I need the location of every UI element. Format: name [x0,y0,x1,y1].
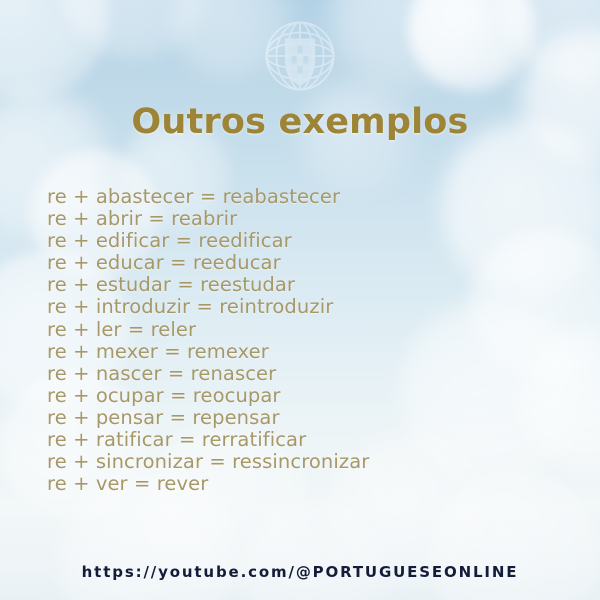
bokeh-circle [0,0,110,100]
bokeh-circle [408,0,536,92]
example-line: re + ver = rever [47,473,517,495]
example-line: re + sincronizar = ressincronizar [47,451,517,473]
slide-canvas: Outros exemplos re + abastecer = reabast… [0,0,600,600]
examples-list: re + abastecer = reabastecerre + abrir =… [47,186,517,495]
example-line: re + introduzir = reintroduzir [47,296,517,318]
footer-url[interactable]: https://youtube.com/@PORTUGUESEONLINE [0,563,600,581]
example-line: re + ocupar = reocupar [47,385,517,407]
portuguese-coat-of-arms-icon [258,14,342,98]
example-line: re + estudar = reestudar [47,274,517,296]
example-line: re + pensar = repensar [47,407,517,429]
bokeh-circle [240,500,390,600]
example-line: re + mexer = remexer [47,341,517,363]
example-line: re + ler = reler [47,319,517,341]
example-line: re + ratificar = rerratificar [47,429,517,451]
example-line: re + abastecer = reabastecer [47,186,517,208]
bokeh-circle [330,0,480,90]
bokeh-circle [500,0,600,85]
example-line: re + nascer = renascer [47,363,517,385]
bokeh-circle [60,0,210,60]
page-title: Outros exemplos [0,102,600,142]
bokeh-circle [520,30,600,165]
example-line: re + educar = reeducar [47,252,517,274]
bokeh-circle [520,330,600,470]
example-line: re + abrir = reabrir [47,208,517,230]
example-line: re + edificar = reedificar [47,230,517,252]
